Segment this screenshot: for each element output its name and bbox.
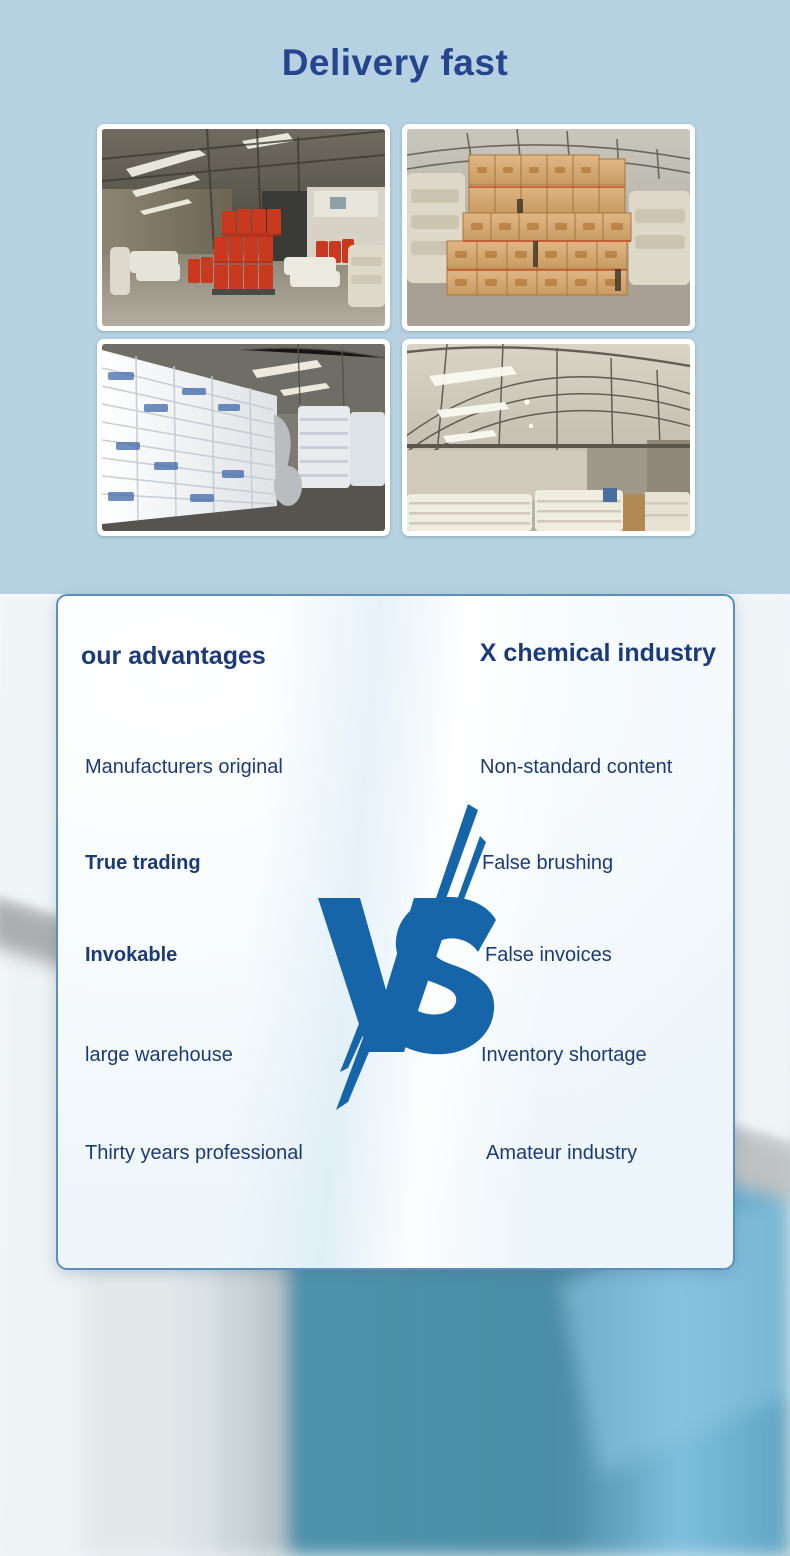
stacked-white-sacks-image — [102, 344, 385, 531]
photo-card-warehouse-arched-roof[interactable] — [402, 339, 695, 536]
page-title: Delivery fast — [0, 42, 790, 84]
stacked-cartons-image — [407, 129, 690, 326]
warehouse-red-drums-image — [102, 129, 385, 326]
photo-stacked-white-sacks — [102, 344, 385, 531]
versus-badge — [310, 802, 506, 1112]
comparison-card: our advantages X chemical industry Manuf… — [56, 594, 735, 1270]
advantage-item-3: large warehouse — [85, 1044, 233, 1067]
photo-grid — [97, 124, 695, 536]
warehouse-arched-roof-image — [407, 344, 690, 531]
photo-card-stacked-white-sacks[interactable] — [97, 339, 390, 536]
advantage-item-4: Thirty years professional — [85, 1142, 303, 1165]
banner-section: Delivery fast — [0, 0, 790, 594]
advantage-item-0: Manufacturers original — [85, 756, 283, 779]
right-column-heading: X chemical industry — [480, 639, 716, 668]
photo-warehouse-red-drums — [102, 129, 385, 326]
vs-lightning-icon — [310, 802, 506, 1112]
advantage-item-2: Invokable — [85, 944, 177, 967]
photo-card-stacked-cartons[interactable] — [402, 124, 695, 331]
drawback-item-0: Non-standard content — [480, 756, 672, 779]
advantage-item-1: True trading — [85, 852, 201, 875]
promo-page: Delivery fast — [0, 0, 790, 1556]
photo-warehouse-arched-roof — [407, 344, 690, 531]
photo-card-warehouse-red-drums[interactable] — [97, 124, 390, 331]
photo-stacked-cartons — [407, 129, 690, 326]
drawback-item-4: Amateur industry — [486, 1142, 637, 1165]
left-column-heading: our advantages — [81, 642, 266, 671]
